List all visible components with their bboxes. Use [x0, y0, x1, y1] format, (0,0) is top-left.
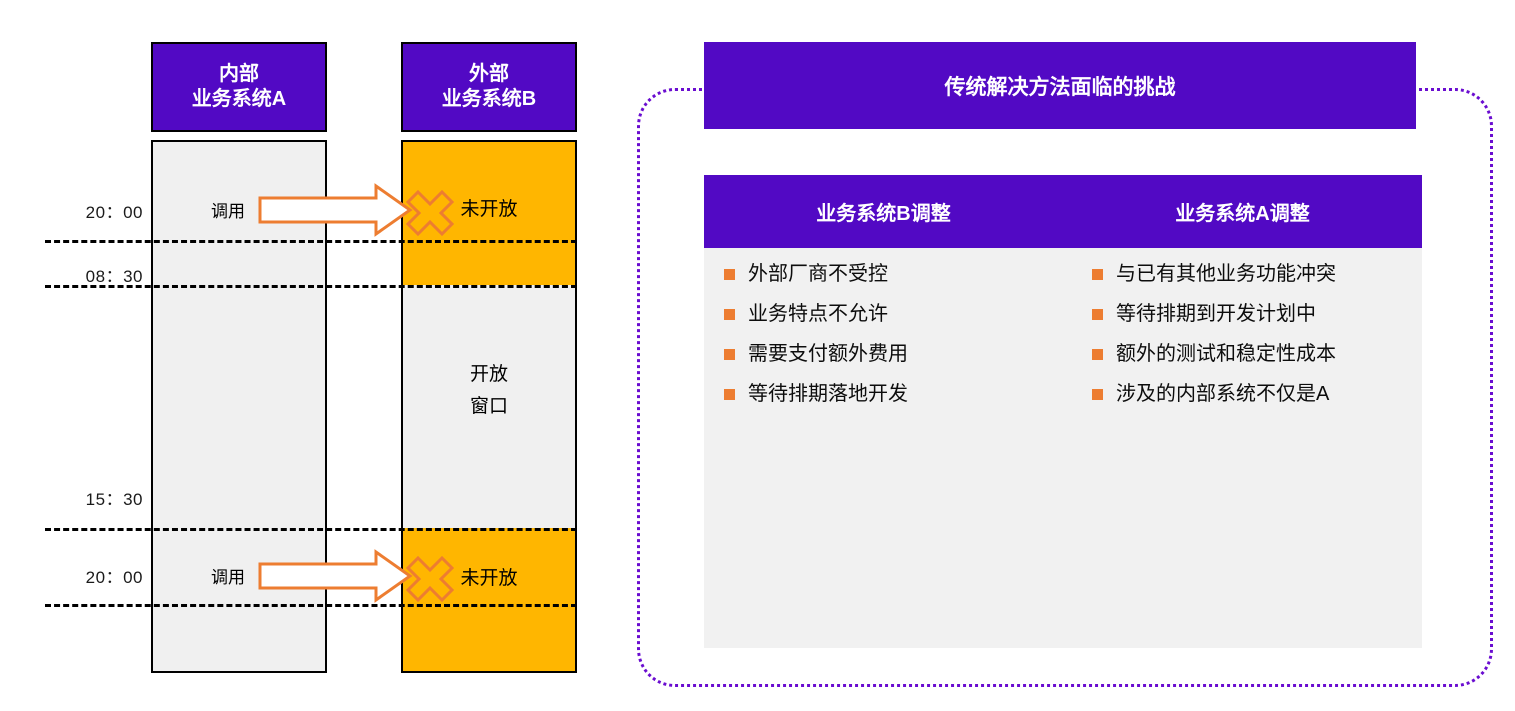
- list-item: 与已有其他业务功能冲突: [1092, 262, 1422, 286]
- list-item: 需要支付额外费用: [724, 342, 1054, 366]
- time-label-1530: 15：30: [45, 485, 143, 510]
- challenges-column-header-a-label: 业务系统A调整: [1175, 197, 1309, 226]
- column-header-external-system-b: 外部 业务系统B: [401, 42, 577, 132]
- square-bullet-icon: [1092, 389, 1103, 400]
- square-bullet-icon: [724, 389, 735, 400]
- challenges-bullet-column-a: 与已有其他业务功能冲突 等待排期到开发计划中 额外的测试和稳定性成本 涉及的内部…: [1054, 262, 1422, 648]
- call-label-bottom: 调用: [211, 563, 245, 588]
- challenges-title: 传统解决方法面临的挑战: [945, 71, 1176, 101]
- list-item: 额外的测试和稳定性成本: [1092, 342, 1422, 366]
- challenges-panel: 传统解决方法面临的挑战 业务系统B调整 业务系统A调整 外部厂商不受控 业务特点…: [610, 0, 1515, 711]
- column-b-title-line2: 业务系统B: [442, 87, 536, 112]
- time-divider-line-3: [45, 528, 577, 531]
- square-bullet-icon: [1092, 269, 1103, 280]
- challenges-column-header-b: 业务系统B调整: [704, 175, 1063, 248]
- block-arrow-icon-bottom: [258, 548, 478, 608]
- challenges-title-bar: 传统解决方法面临的挑战: [704, 42, 1416, 129]
- list-item-label: 与已有其他业务功能冲突: [1116, 262, 1336, 286]
- square-bullet-icon: [1092, 349, 1103, 360]
- square-bullet-icon: [724, 269, 735, 280]
- list-item: 业务特点不允许: [724, 302, 1054, 326]
- column-a-title-line2: 业务系统A: [192, 87, 286, 112]
- list-item-label: 业务特点不允许: [748, 302, 888, 326]
- column-header-internal-system-a: 内部 业务系统A: [151, 42, 327, 132]
- block-arrow-icon-top: [258, 182, 478, 242]
- call-label-top: 调用: [211, 197, 245, 222]
- list-item: 等待排期到开发计划中: [1092, 302, 1422, 326]
- square-bullet-icon: [1092, 309, 1103, 320]
- challenges-bullet-column-b: 外部厂商不受控 业务特点不允许 需要支付额外费用 等待排期落地开发: [704, 262, 1054, 648]
- challenges-column-header-b-label: 业务系统B调整: [816, 197, 950, 226]
- square-bullet-icon: [724, 309, 735, 320]
- list-item-label: 额外的测试和稳定性成本: [1116, 342, 1336, 366]
- time-label-2000-bottom: 20：00: [45, 563, 143, 588]
- list-item: 涉及的内部系统不仅是A: [1092, 382, 1422, 406]
- segment-open-window-label-line2: 窗口: [403, 394, 575, 420]
- column-b-title-line1: 外部: [469, 62, 509, 87]
- time-label-2000-top: 20：00: [45, 198, 143, 223]
- timeline-diagram: 内部 业务系统A 外部 业务系统B 未开放 开放 窗口 未开放 20：00 08…: [0, 0, 610, 711]
- list-item-label: 外部厂商不受控: [748, 262, 888, 286]
- list-item: 外部厂商不受控: [724, 262, 1054, 286]
- square-bullet-icon: [724, 349, 735, 360]
- list-item-label: 涉及的内部系统不仅是A: [1116, 382, 1329, 406]
- column-a-title-line1: 内部: [219, 62, 259, 87]
- call-arrow-blocked-bottom: [258, 548, 478, 608]
- time-label-0830: 08：30: [45, 262, 143, 287]
- list-item: 等待排期落地开发: [724, 382, 1054, 406]
- segment-open-window-label-line1: 开放: [403, 362, 575, 388]
- list-item-label: 等待排期落地开发: [748, 382, 908, 406]
- list-item-label: 需要支付额外费用: [748, 342, 908, 366]
- call-arrow-blocked-top: [258, 182, 478, 242]
- challenges-columns-body: 外部厂商不受控 业务特点不允许 需要支付额外费用 等待排期落地开发 与已有其他业…: [704, 248, 1422, 648]
- challenges-column-header-a: 业务系统A调整: [1063, 175, 1422, 248]
- challenges-columns-header: 业务系统B调整 业务系统A调整: [704, 175, 1422, 248]
- list-item-label: 等待排期到开发计划中: [1116, 302, 1316, 326]
